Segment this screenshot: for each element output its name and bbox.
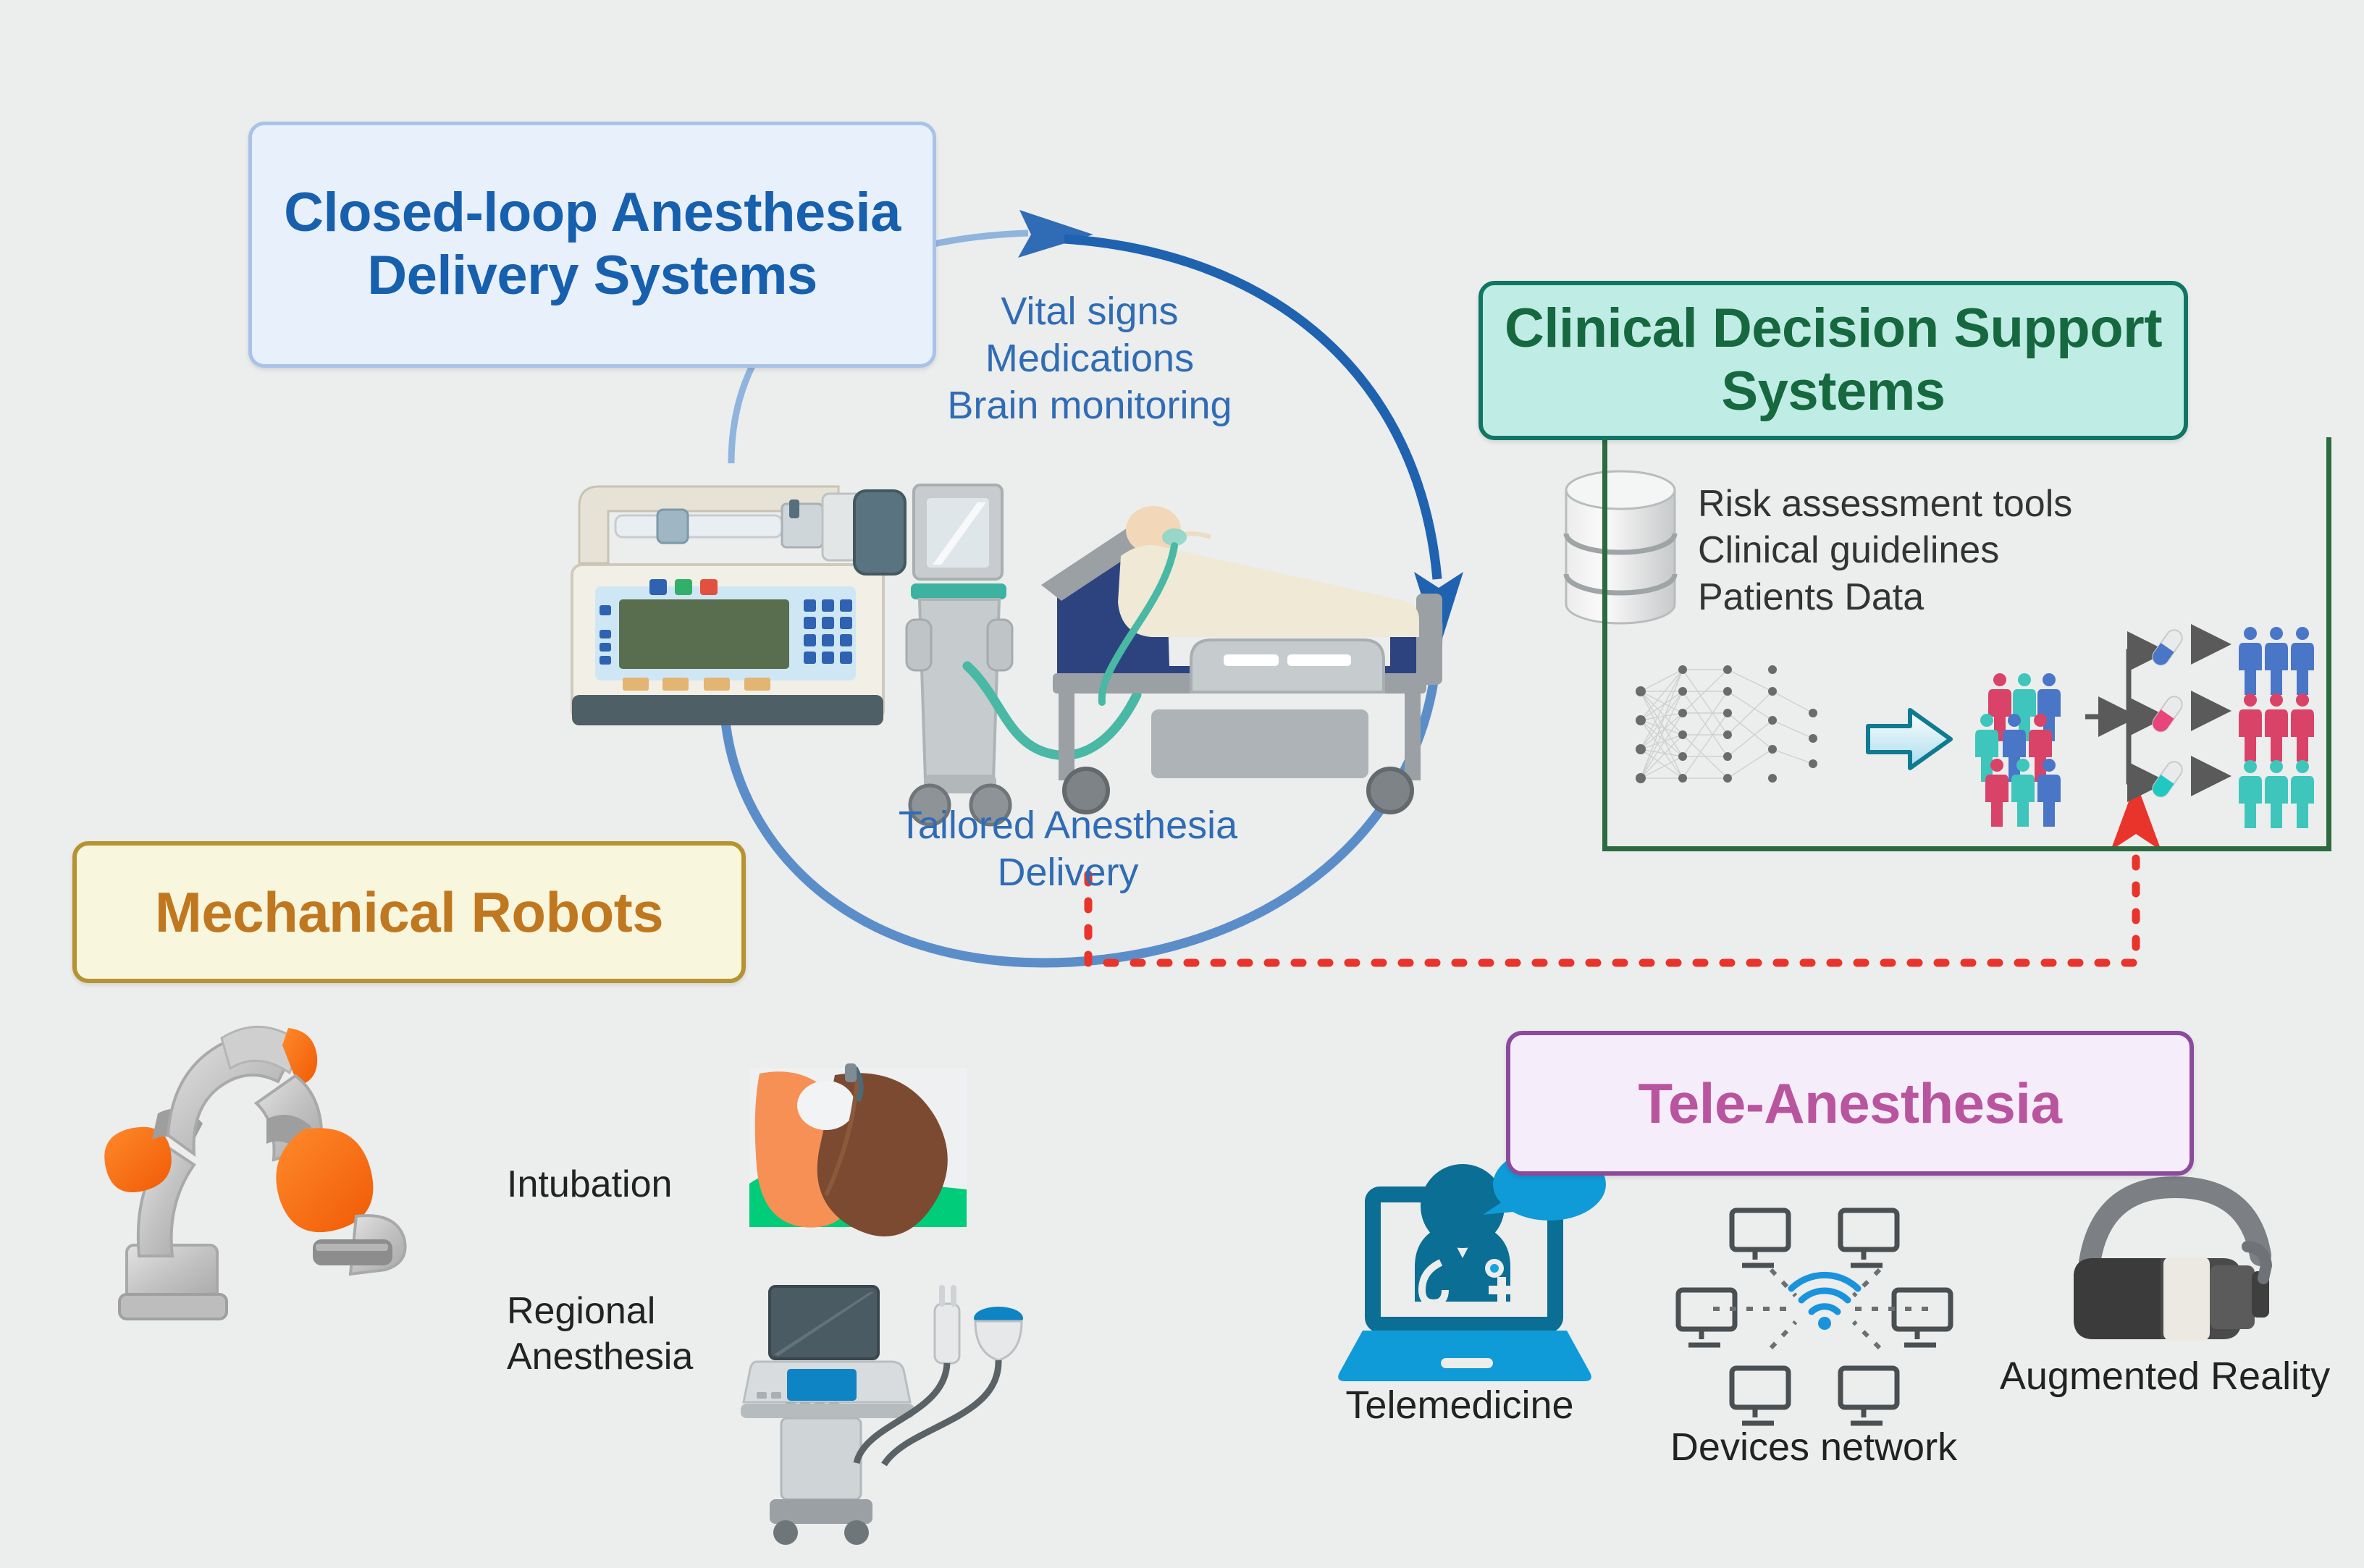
closed-loop-title-box[interactable]: Closed-loop Anesthesia Delivery Systems (248, 122, 936, 368)
figure-canvas: Closed-loop Anesthesia Delivery Systems … (0, 0, 2364, 1568)
cdss-data-sources-label: Risk assessment tools Clinical guideline… (1698, 481, 2147, 620)
closed-loop-inputs-label: Vital signs Medications Brain monitoring (934, 288, 1245, 429)
cdss-title-box[interactable]: Clinical Decision Support Systems (1478, 281, 2188, 440)
wifi-devices-network-icon (1678, 1210, 1951, 1423)
tele-anesthesia-title-box[interactable]: Tele-Anesthesia (1506, 1031, 2194, 1176)
tele-item-label-telemedicine: Telemedicine (1300, 1383, 1619, 1428)
robot-application-label-regional-anesthesia: Regional Anesthesia (507, 1289, 811, 1381)
robotic-arm-illustration (104, 1027, 405, 1319)
laptop-doctor-icon (1338, 1148, 1606, 1381)
mechanical-robots-title-box[interactable]: Mechanical Robots (72, 841, 746, 983)
robot-application-label-intubation: Intubation (507, 1162, 811, 1207)
patient-bed-illustration (1041, 506, 1442, 812)
tele-item-label-devices-network: Devices network (1644, 1425, 1984, 1470)
vr-headset-icon (2074, 1187, 2269, 1341)
intubation-illustration (749, 1063, 967, 1236)
closed-loop-output-label: Tailored Anesthesia Delivery (862, 802, 1274, 896)
infusion-pump-illustration (572, 486, 905, 725)
anesthesia-machine-illustration (907, 485, 1137, 825)
tele-item-label-augmented-reality: Augmented Reality (1977, 1354, 2353, 1399)
